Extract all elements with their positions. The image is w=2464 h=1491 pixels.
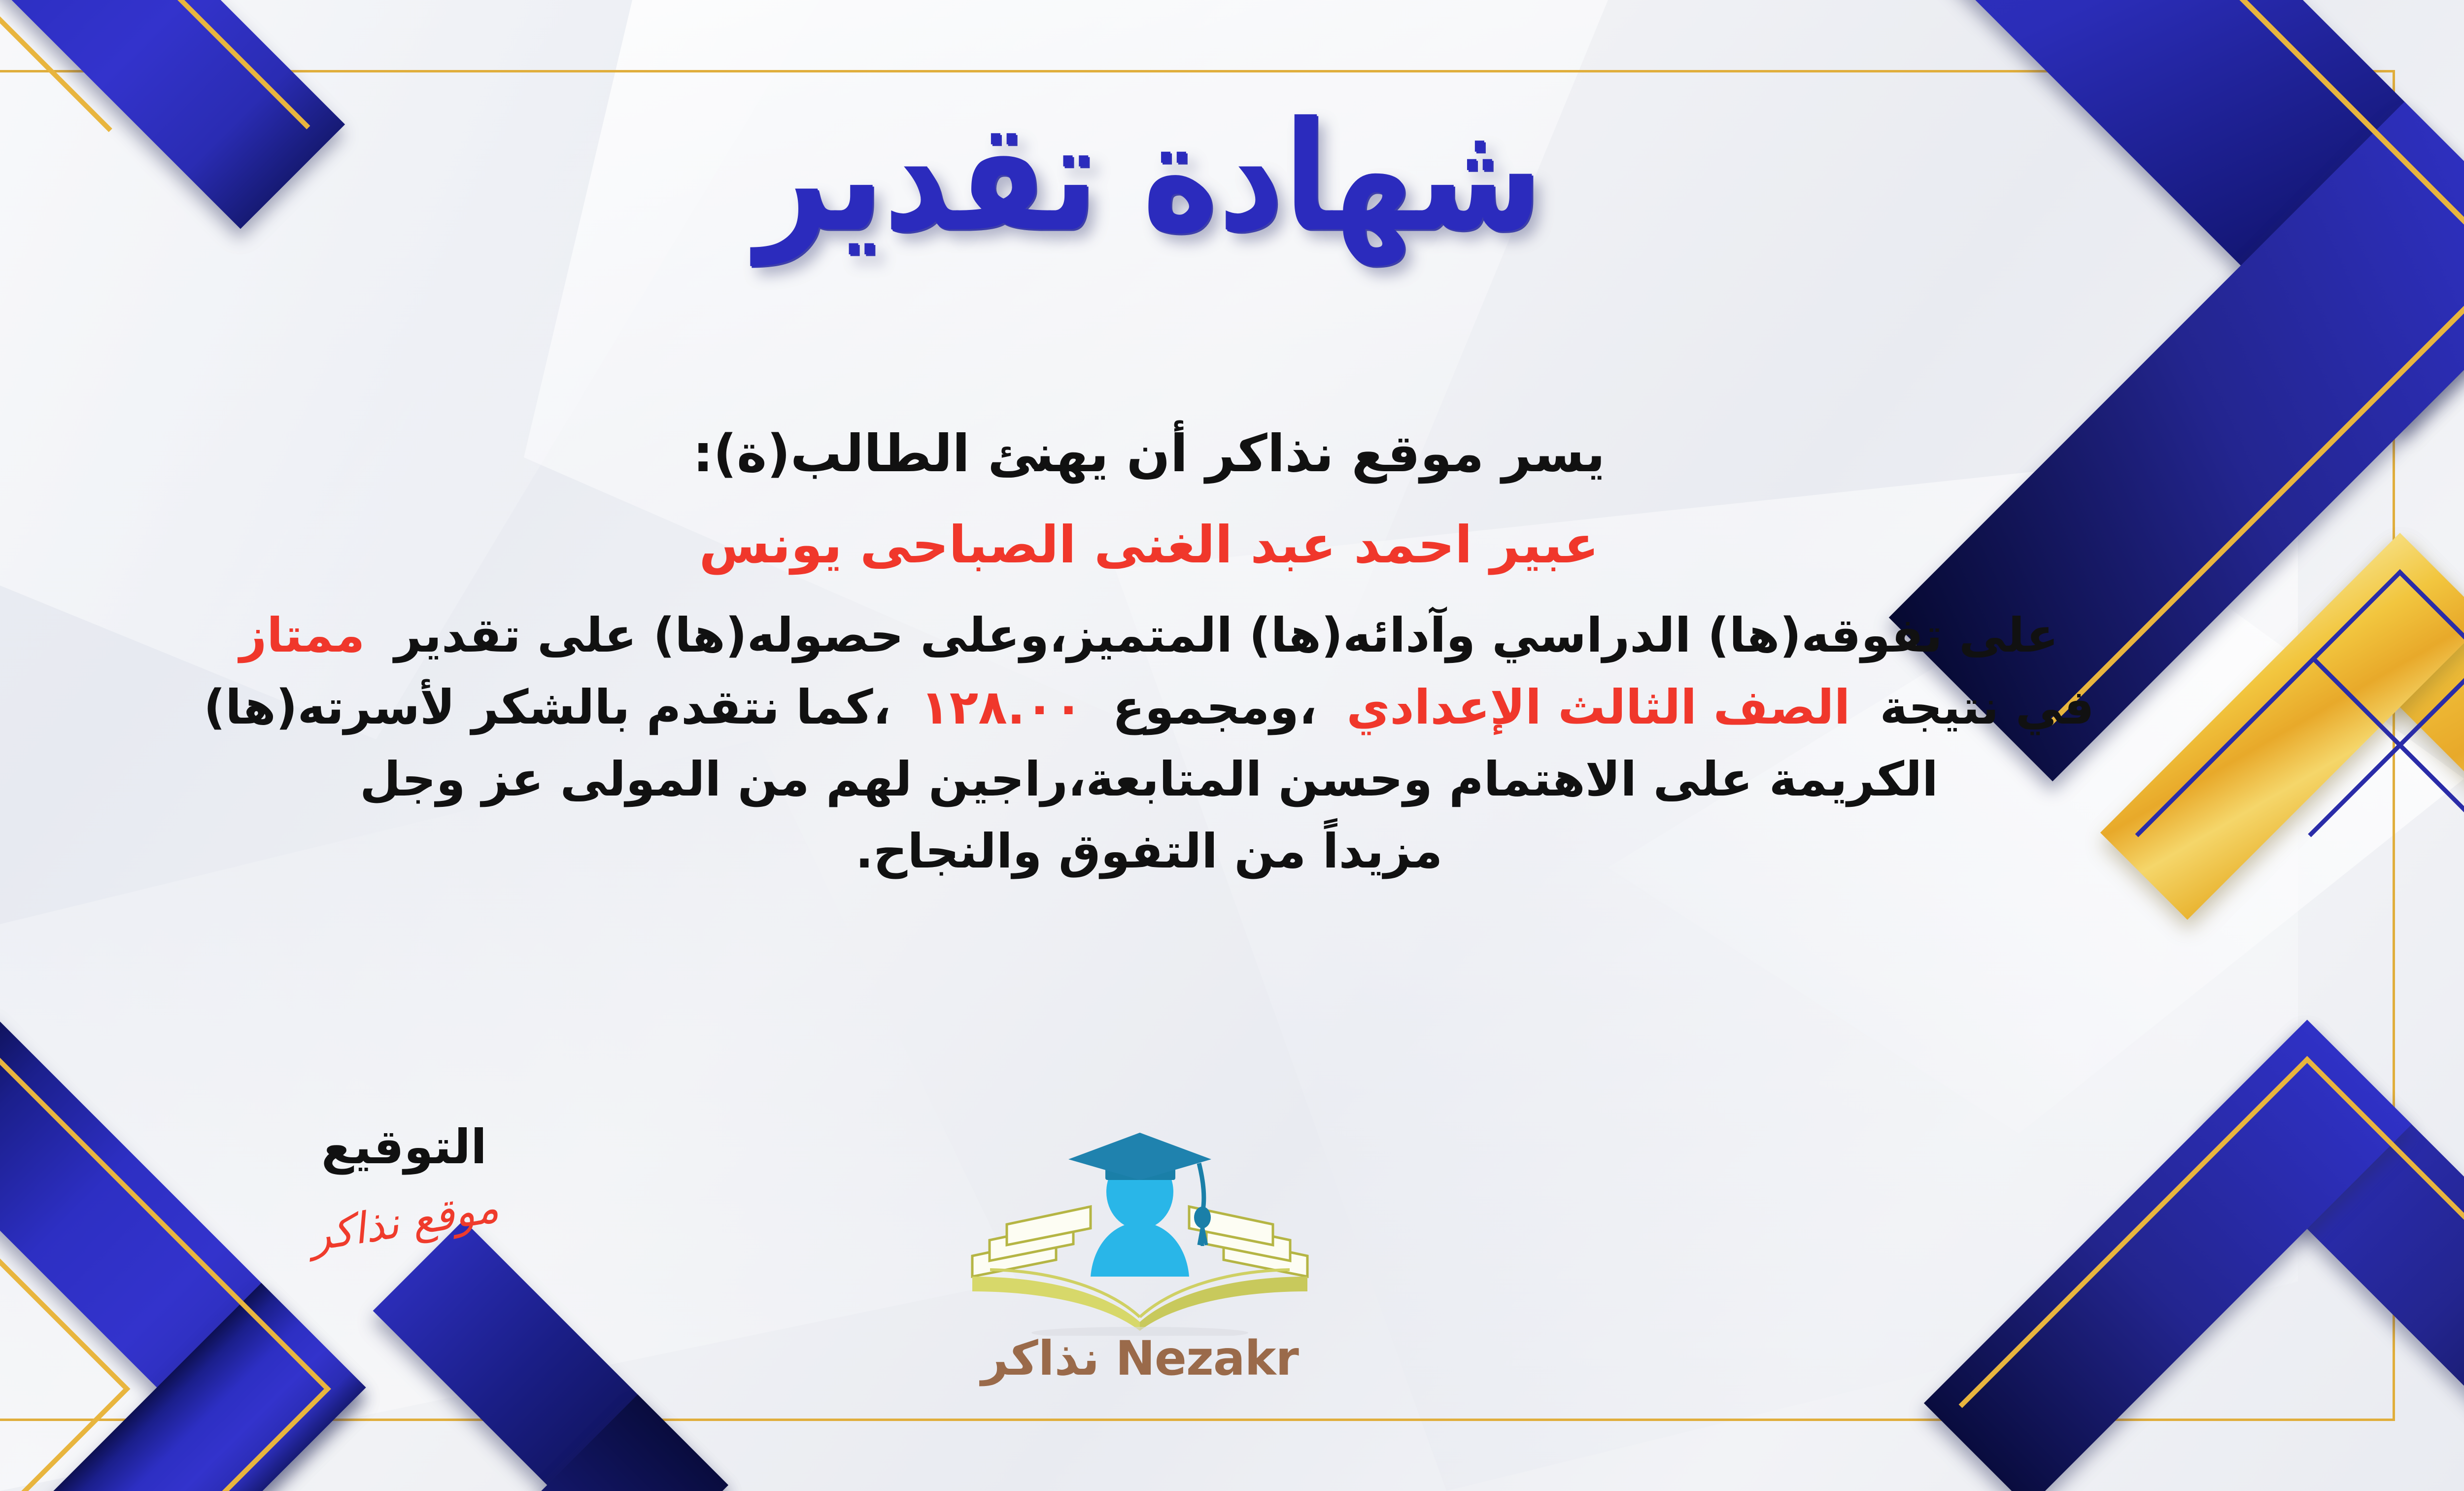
- signature-label: التوقيع: [251, 1119, 557, 1176]
- total-label: ،ومجموع: [1112, 680, 1317, 735]
- corner-ornament-bottom-right: [1729, 825, 2464, 1491]
- signature-block: التوقيع موقع نذاكر: [251, 1119, 557, 1247]
- certificate-paragraph: على تفوقه(ها) الدراسي وآدائه(ها) المتميز…: [0, 600, 2316, 888]
- paragraph-line-3: الكريمة على الاهتمام وحسن المتابعة،راجين…: [0, 744, 2316, 816]
- certificate-body: يسر موقع نذاكر أن يهنئ الطالب(ة): عبير ا…: [0, 414, 2316, 888]
- paragraph-line-4: مزيداً من التفوق والنجاح.: [0, 816, 2316, 888]
- graduate-book-icon: [943, 1129, 1337, 1336]
- brand-logo: Nezakr نذاكر: [943, 1129, 1337, 1415]
- page-title: شهادة تقدير: [755, 102, 1542, 253]
- class-value: الصف الثالث الإعدادي: [1346, 680, 1850, 735]
- paragraph-line-1: على تفوقه(ها) الدراسي وآدائه(ها) المتميز…: [0, 600, 2316, 672]
- result-label: في نتيجة: [1880, 680, 2094, 735]
- signature-mark: موقع نذاكر: [307, 1183, 502, 1261]
- certificate-title-area: شهادة تقدير: [0, 74, 2464, 281]
- score-value: ١٢٨.٠٠: [921, 680, 1083, 735]
- paragraph-line-2: في نتيجةالصف الثالث الإعدادي،ومجموع١٢٨.٠…: [0, 672, 2316, 744]
- certificate-canvas: شهادة تقدير يسر موقع نذاكر أن يهنئ الطال…: [0, 0, 2464, 1491]
- greeting-line: يسر موقع نذاكر أن يهنئ الطالب(ة):: [0, 414, 2316, 493]
- brand-logo-text: Nezakr نذاكر: [943, 1331, 1337, 1386]
- paragraph-line-1-text: على تفوقه(ها) الدراسي وآدائه(ها) المتميز…: [394, 608, 2058, 663]
- thanks-text: ،كما نتقدم بالشكر لأسرته(ها): [204, 680, 891, 735]
- grade-value: ممتاز: [240, 608, 365, 663]
- student-name: عبير احمد عبد الغنى الصباحى يونس: [0, 506, 2316, 583]
